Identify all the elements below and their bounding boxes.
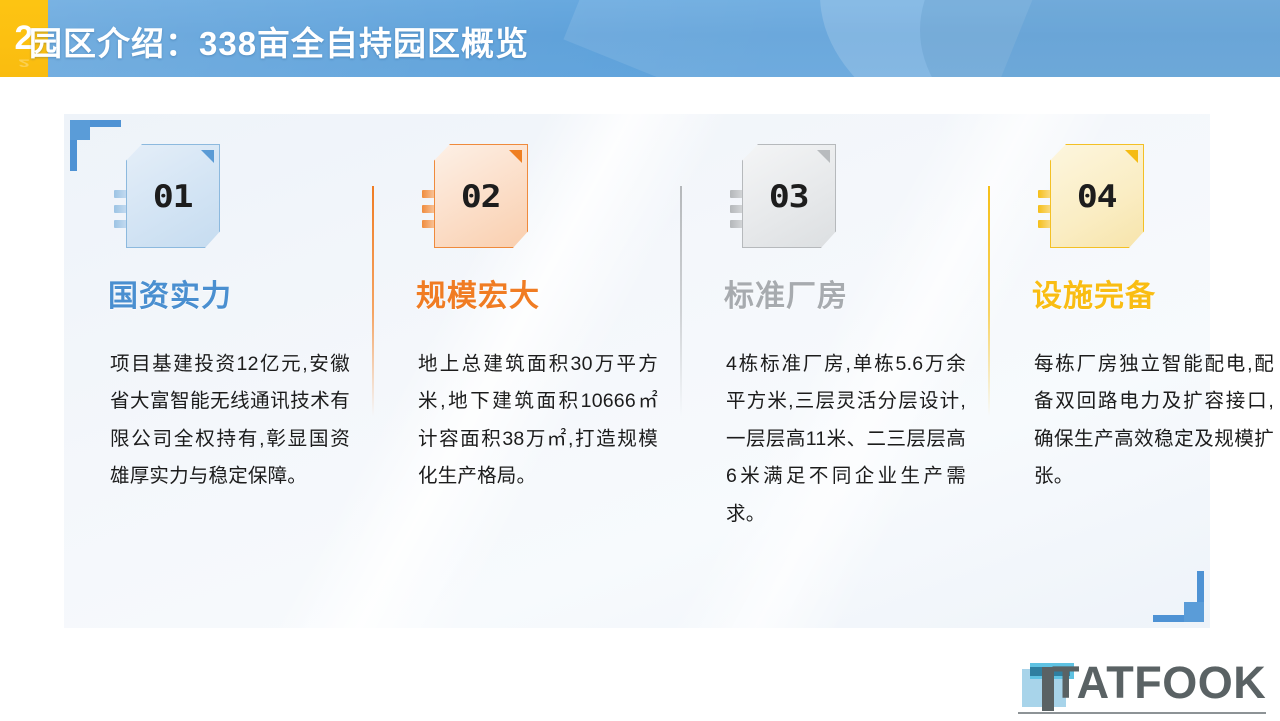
- column-divider-2: [680, 186, 682, 416]
- column-body-3: 4栋标准厂房,单栋5.6万余平方米,三层灵活分层设计,一层层高11米、二三层层高…: [726, 346, 966, 533]
- column-body-4: 每栋厂房独立智能配电,配备双回路电力及扩容接口,确保生产高效稳定及规模扩张。: [1034, 346, 1274, 496]
- number-badge-3: 03: [730, 144, 836, 248]
- feature-columns: 01 国资实力 项目基建投资12亿元,安徽省大富智能无线通讯技术有限公司全权持有…: [64, 114, 1210, 628]
- logo-text: TATFOOK: [1052, 657, 1266, 709]
- column-title-4: 设施完备: [1032, 282, 1274, 312]
- content-panel: 01 国资实力 项目基建投资12亿元,安徽省大富智能无线通讯技术有限公司全权持有…: [64, 114, 1210, 628]
- badge-number: 04: [1077, 182, 1117, 213]
- column-title-2: 规模宏大: [416, 282, 658, 312]
- feature-column-4: 04 设施完备 每栋厂房独立智能配电,配备双回路电力及扩容接口,确保生产高效稳定…: [988, 114, 1280, 628]
- number-badge-1: 01: [114, 144, 220, 248]
- company-logo: TATFOOK: [1018, 657, 1266, 709]
- badge-corner-icon: [817, 150, 830, 163]
- number-badge-4: 04: [1038, 144, 1144, 248]
- badge-corner-icon: [201, 150, 214, 163]
- badge-number: 03: [769, 182, 809, 213]
- column-divider-3: [988, 186, 990, 416]
- badge-shape: 03: [742, 144, 836, 248]
- column-divider-1: [372, 186, 374, 416]
- logo-underline: [1018, 712, 1266, 714]
- badge-shape: 02: [434, 144, 528, 248]
- badge-corner-icon: [509, 150, 522, 163]
- badge-corner-icon: [1125, 150, 1138, 163]
- feature-column-3: 03 标准厂房 4栋标准厂房,单栋5.6万余平方米,三层灵活分层设计,一层层高1…: [680, 114, 988, 628]
- column-body-1: 项目基建投资12亿元,安徽省大富智能无线通讯技术有限公司全权持有,彰显国资雄厚实…: [110, 346, 350, 496]
- column-title-3: 标准厂房: [724, 282, 966, 312]
- feature-column-2: 02 规模宏大 地上总建筑面积30万平方米,地下建筑面积10666㎡ 计容面积3…: [372, 114, 680, 628]
- badge-shape: 01: [126, 144, 220, 248]
- slide-header: 2 2 园区介绍：338亩全自持园区概览: [0, 0, 1280, 77]
- page-title: 园区介绍：338亩全自持园区概览: [29, 17, 529, 65]
- column-title-1: 国资实力: [108, 282, 350, 312]
- badge-shape: 04: [1050, 144, 1144, 248]
- feature-column-1: 01 国资实力 项目基建投资12亿元,安徽省大富智能无线通讯技术有限公司全权持有…: [64, 114, 372, 628]
- number-badge-2: 02: [422, 144, 528, 248]
- badge-number: 02: [461, 182, 501, 213]
- badge-number: 01: [153, 182, 193, 213]
- column-body-2: 地上总建筑面积30万平方米,地下建筑面积10666㎡ 计容面积38万㎡,打造规模…: [418, 346, 658, 496]
